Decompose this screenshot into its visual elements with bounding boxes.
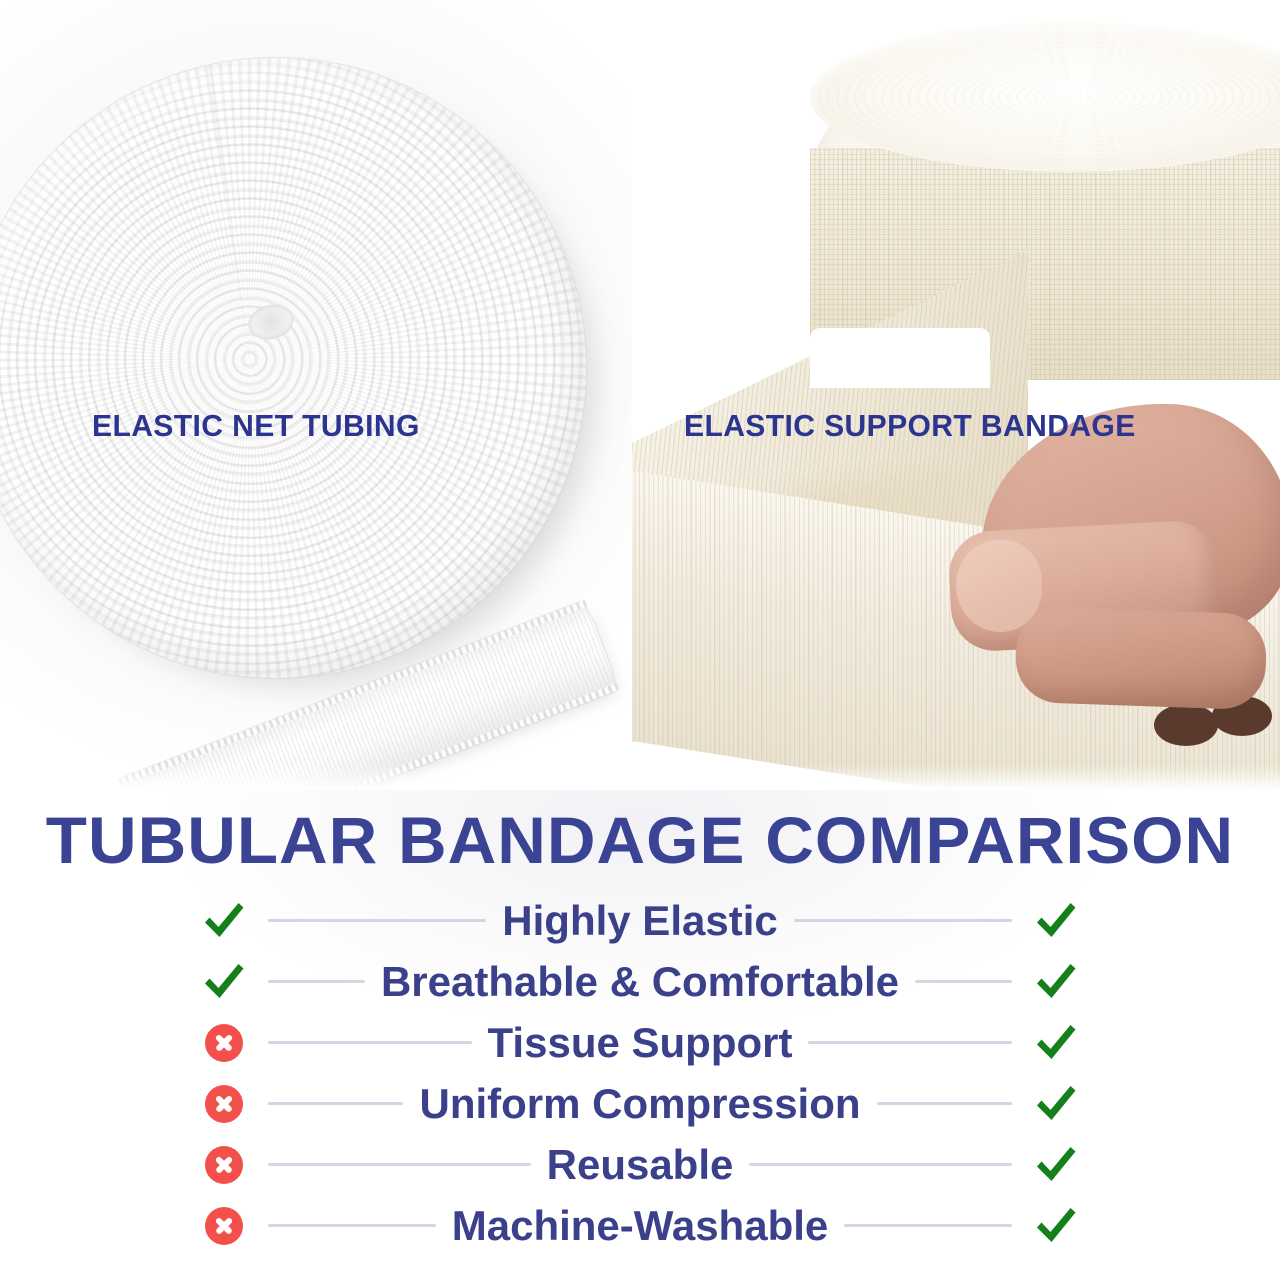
product-label-left: ELASTIC NET TUBING: [92, 408, 420, 444]
cross-icon-circle: [205, 1085, 243, 1123]
check-icon: [1028, 1076, 1084, 1132]
connector-line-right: [808, 1041, 1012, 1044]
product-photo-elastic-net-tubing: [0, 0, 648, 790]
connector-line-left: [268, 1163, 531, 1166]
comparison-title: TUBULAR BANDAGE COMPARISON: [0, 804, 1280, 876]
product-photo-band: ELASTIC NET TUBING ELASTIC SUPPORT BANDA…: [0, 0, 1280, 790]
connector-line-right: [749, 1163, 1012, 1166]
product-label-right: ELASTIC SUPPORT BANDAGE: [684, 408, 1136, 444]
feature-label: Highly Elastic: [502, 897, 777, 945]
infographic-root: ELASTIC NET TUBING ELASTIC SUPPORT BANDA…: [0, 0, 1280, 1280]
hand-pulling-fabric: [950, 404, 1280, 790]
check-icon: [1028, 893, 1084, 949]
cross-icon: [196, 1015, 252, 1071]
comparison-row: Breathable & Comfortable: [0, 951, 1280, 1012]
fingertip-highlight: [956, 540, 1042, 632]
feature-label: Uniform Compression: [419, 1080, 860, 1128]
connector-line-right: [877, 1102, 1012, 1105]
cross-icon: [196, 1137, 252, 1193]
cross-icon-circle: [205, 1146, 243, 1184]
check-icon: [1028, 1137, 1084, 1193]
cross-icon: [196, 1076, 252, 1132]
comparison-row: Uniform Compression: [0, 1073, 1280, 1134]
product-photo-elastic-support-bandage: [632, 0, 1280, 790]
support-bandage-scene: [632, 0, 1280, 790]
comparison-row: Reusable: [0, 1134, 1280, 1195]
check-icon: [1028, 1198, 1084, 1254]
connector-line-left: [268, 1041, 472, 1044]
comparison-row: Machine-Washable: [0, 1195, 1280, 1256]
check-icon: [1028, 954, 1084, 1010]
net-tubing-scene: [0, 0, 648, 790]
connector-line-left: [268, 919, 486, 922]
photo-band-fade: [0, 764, 1280, 790]
feature-label: Reusable: [547, 1141, 734, 1189]
comparison-row: Highly Elastic: [0, 890, 1280, 951]
cross-icon-circle: [205, 1207, 243, 1245]
check-icon: [1028, 1015, 1084, 1071]
feature-label: Breathable & Comfortable: [381, 958, 899, 1006]
net-tubing-coil: [0, 18, 626, 718]
connector-line-right: [794, 919, 1012, 922]
connector-line-left: [268, 1224, 436, 1227]
connector-line-left: [268, 1102, 403, 1105]
feature-label: Tissue Support: [488, 1019, 793, 1067]
cross-icon: [196, 1198, 252, 1254]
comparison-panel: TUBULAR BANDAGE COMPARISON Highly Elasti…: [0, 790, 1280, 1280]
comparison-row: Tissue Support: [0, 1012, 1280, 1073]
check-icon: [196, 893, 252, 949]
feature-label: Machine-Washable: [452, 1202, 829, 1250]
comparison-rows: Highly ElasticBreathable & ComfortableTi…: [0, 890, 1280, 1256]
connector-line-right: [915, 980, 1012, 983]
check-icon: [196, 954, 252, 1010]
finger-gap-shadow: [1154, 704, 1218, 746]
middle-finger: [1014, 606, 1267, 711]
connector-line-right: [844, 1224, 1012, 1227]
bandage-white-strip: [810, 328, 990, 388]
cross-icon-circle: [205, 1024, 243, 1062]
connector-line-left: [268, 980, 365, 983]
